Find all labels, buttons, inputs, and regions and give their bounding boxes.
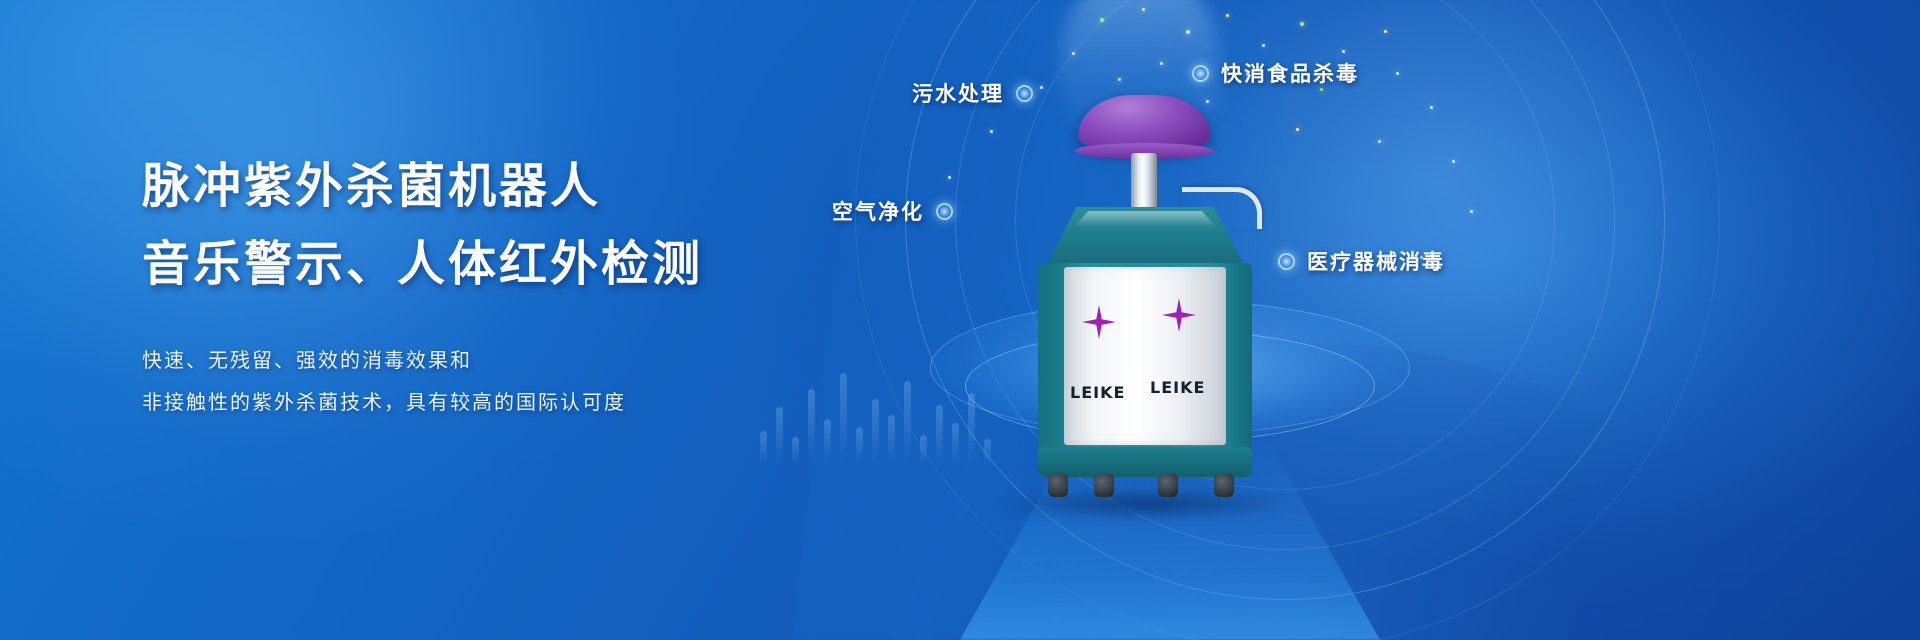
product-uv-robot: LEIKE LEIKE [1030,95,1260,495]
node-dot-icon [1192,65,1209,82]
node-dot-icon [1278,253,1295,270]
sparkle-dot [1396,72,1399,75]
caster-wheel [1158,473,1178,497]
node-dot-icon [936,203,953,220]
caster-wheel [1094,473,1114,497]
callout-waste-water-label: 污水处理 [912,78,1004,108]
sparkle-dot [1378,140,1381,143]
sparkle-dot [1430,106,1433,109]
product-front-panel [1064,267,1226,445]
sparkle-dot [990,130,993,133]
sparkle-dot [1320,88,1323,91]
headline-line-1: 脉冲紫外杀菌机器人 [142,152,842,222]
callout-fmcg-food-label: 快消食品杀毒 [1221,58,1359,88]
sparkle-dot [1300,22,1304,26]
callout-medical-device: 医疗器械消毒 [1278,246,1445,276]
sparkle-dot [1452,160,1455,163]
sparkle-dot [1296,128,1299,131]
callout-air-purify: 空气净化 [832,196,953,226]
sparkle-dot [1342,50,1345,53]
product-top-highlight [1074,211,1216,227]
brand-logo-right: LEIKE [1150,378,1205,397]
callout-medical-device-label: 医疗器械消毒 [1307,246,1445,276]
caster-wheel [1048,473,1068,497]
sparkle-dot [1384,30,1387,33]
headline-block: 脉冲紫外杀菌机器人 音乐警示、人体红外检测 快速、无残留、强效的消毒效果和 非接… [142,152,842,423]
brand-logo-left: LEIKE [1070,383,1125,402]
sparkle-dot [1470,210,1473,213]
subcopy-line-1: 快速、无残留、强效的消毒效果和 [142,339,842,381]
callout-fmcg-food: 快消食品杀毒 [1192,58,1359,88]
promo-banner: 脉冲紫外杀菌机器人 音乐警示、人体红外检测 快速、无残留、强效的消毒效果和 非接… [0,0,1920,640]
sparkle-dot [1262,44,1265,47]
callout-waste-water: 污水处理 [912,78,1033,108]
subcopy-line-2: 非接触性的紫外杀菌技术，具有较高的国际认可度 [142,381,842,423]
sparkle-dot [948,176,951,179]
sparkle-dot [1226,14,1229,17]
callout-air-purify-label: 空气净化 [832,196,924,226]
subcopy-block: 快速、无残留、强效的消毒效果和 非接触性的紫外杀菌技术，具有较高的国际认可度 [142,339,842,423]
sparkle-dot [1040,86,1043,89]
caster-wheel [1214,473,1234,497]
headline-line-2: 音乐警示、人体红外检测 [142,230,842,300]
